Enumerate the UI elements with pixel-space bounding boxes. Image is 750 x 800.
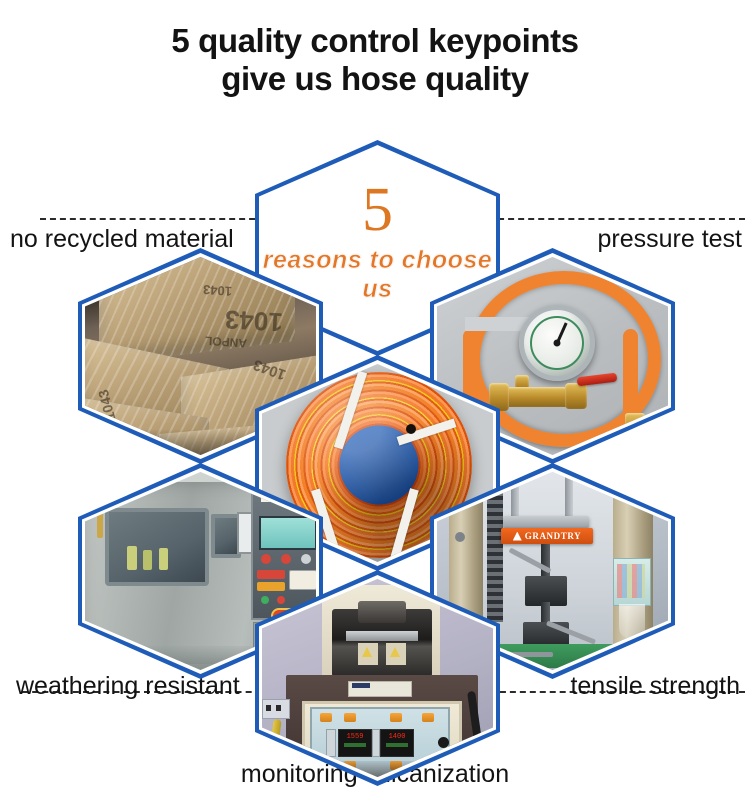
connector-dash-top-right: [478, 218, 745, 220]
rheometer-display-left: 1559: [338, 729, 372, 757]
connector-dash-top-left: [40, 218, 275, 220]
title-line-2: give us hose quality: [0, 60, 750, 98]
display-value-left: 1559: [339, 733, 371, 741]
label-pressure-test: pressure test: [597, 225, 742, 254]
brand-text: GRANDTRY: [525, 531, 581, 541]
page-title: 5 quality control keypoints give us hose…: [0, 22, 750, 98]
machine-brand-plate: GRANDTRY: [501, 528, 593, 544]
pressure-gauge-icon: [519, 305, 595, 381]
display-value-right: 1400: [381, 733, 413, 741]
hex-inner: 1559 1400: [262, 579, 493, 777]
label-tensile-strength: tensile strength: [570, 672, 740, 701]
rheometer-display-right: 1400: [380, 729, 414, 757]
infographic-canvas: 5 quality control keypoints give us hose…: [0, 0, 750, 800]
title-line-1: 5 quality control keypoints: [171, 22, 578, 59]
badge-number: 5: [262, 179, 493, 241]
moving-die-rheometer-photo: 1559 1400: [262, 579, 493, 777]
